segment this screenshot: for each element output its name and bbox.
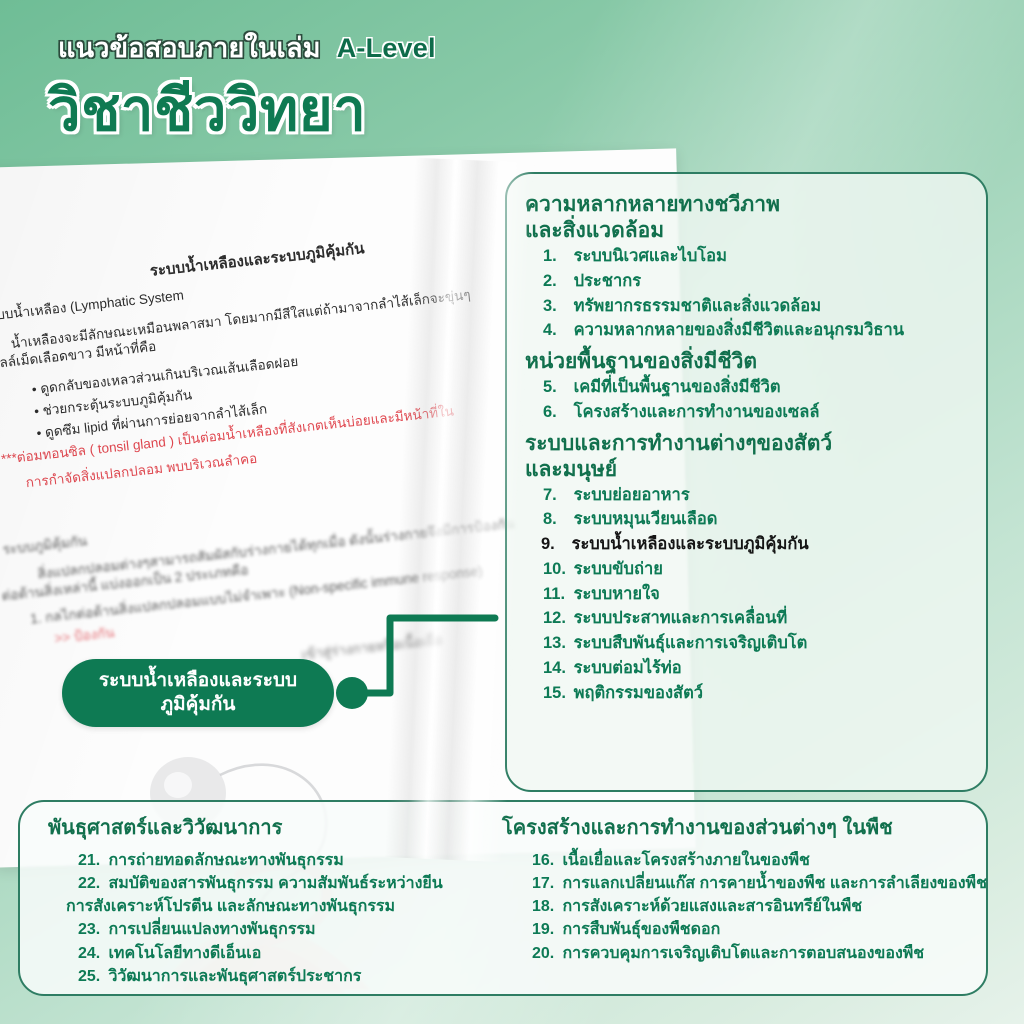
- toc-section-heading: ความหลากหลายทางชวีภาพ: [507, 192, 986, 218]
- toc-section-heading: และสิ่งแวดล้อม: [507, 218, 986, 244]
- header: แนวข้อสอบภายในเล่มA-Level วิชาชีววิทยา: [0, 0, 1024, 172]
- notebook-title: ระบบน้ำเหลืองและระบบภูมิคุ้มกัน: [149, 238, 366, 282]
- toc-item[interactable]: 3. ทรัพยากรธรรมชาติและสิ่งแวดล้อม: [507, 294, 986, 319]
- toc-item[interactable]: 24. เทคโนโลยีทางดีเอ็นเอ: [36, 942, 486, 965]
- toc-item[interactable]: 23. การเปลี่ยนแปลงทางพันธุกรรม: [36, 918, 486, 941]
- toc-item-number: 14.: [543, 656, 569, 681]
- toc-item[interactable]: 15. พฤติกรรมของสัตว์: [507, 681, 986, 706]
- toc-item[interactable]: 13. ระบบสืบพันธุ์และการเจริญเติบโต: [507, 631, 986, 656]
- callout-badge-line1: ระบบน้ำเหลืองและระบบ: [99, 670, 297, 691]
- notebook-line: สิ่งแปลกปลอมต่างๆสามารถสัมผัสกับร่างกายไ…: [37, 514, 516, 584]
- notebook-line: • ดูดกลับของเหลวส่วนเกินบริเวณเส้นเลือดฝ…: [31, 352, 299, 399]
- toc-item[interactable]: 7. ระบบย่อยอาหาร: [507, 483, 986, 508]
- notebook-line: 1. กลไกต่อต้านสิ่งแปลกปลอมแบบไม่จำเพาะ (…: [29, 561, 483, 628]
- toc-item-label: การเปลี่ยนแปลงทางพันธุกรรม: [104, 921, 316, 938]
- toc-item-label: ระบบขับถ่าย: [569, 560, 663, 578]
- toc-item[interactable]: 5. เคมีที่เป็นพื้นฐานของสิ่งมีชีวิต: [507, 375, 986, 400]
- toc-item-number: 13.: [543, 631, 569, 656]
- toc-item-number: 6.: [543, 400, 569, 425]
- notebook-line: มีเซลล์เม็ดเลือดขาว มีหน้าที่คือ: [0, 337, 157, 375]
- notebook-line: >> ป้องกัน: [53, 623, 115, 648]
- toc-item-label: ความหลากหลายของสิ่งมีชีวิตและอนุกรมวิธาน: [569, 321, 904, 339]
- toc-section-heading: และมนุษย์: [507, 457, 986, 483]
- toc-panel-bottom: พันธุศาสตร์และวิวัฒนาการ21. การถ่ายทอดลั…: [18, 800, 988, 996]
- toc-item-number: 2.: [543, 269, 569, 294]
- toc-section-heading: พันธุศาสตร์และวิวัฒนาการ: [36, 816, 486, 841]
- toc-item-label: ระบบหายใจ: [569, 585, 660, 603]
- toc-item-active[interactable]: 9. ระบบน้ำเหลืองและระบบภูมิคุ้มกัน: [507, 532, 986, 557]
- toc-item-label: ระบบประสาทและการเคลื่อนที่: [569, 609, 787, 627]
- toc-item[interactable]: 19. การสืบพันธุ์ของพืชดอก: [490, 918, 986, 941]
- toc-item-label: เคมีที่เป็นพื้นฐานของสิ่งมีชีวิต: [569, 378, 781, 396]
- toc-item-label: ระบบหมุนเวียนเลือด: [569, 510, 718, 528]
- toc-item[interactable]: 6. โครงสร้างและการทำงานของเซลล์: [507, 400, 986, 425]
- toc-item-number: 11.: [543, 582, 569, 607]
- notebook-line: ระบบภูมิคุ้มกัน: [2, 531, 88, 559]
- toc-item-number: 7.: [543, 483, 569, 508]
- toc-item-label: วิวัฒนาการและพันธุศาสตร์ประชากร: [104, 968, 361, 985]
- toc-item-number: 3.: [543, 294, 569, 319]
- toc-item-number: 24.: [78, 942, 104, 965]
- notebook-line: ***ต่อมทอนซิล ( tonsil gland ) เป็นต่อมน…: [0, 402, 455, 469]
- toc-panel-right: ความหลากหลายทางชวีภาพและสิ่งแวดล้อม1. ระ…: [505, 172, 988, 792]
- toc-item-number: 22.: [78, 872, 104, 895]
- toc-item-label: พฤติกรรมของสัตว์: [569, 684, 703, 702]
- toc-item-label: สมบัติของสารพันธุกรรม ความสัมพันธ์ระหว่า…: [104, 875, 443, 892]
- toc-item-label: ประชากร: [569, 272, 641, 290]
- toc-item-label: เทคโนโลยีทางดีเอ็นเอ: [104, 945, 261, 962]
- callout-badge[interactable]: ระบบน้ำเหลืองและระบบ ภูมิคุ้มกัน: [62, 659, 334, 727]
- toc-column-plants: โครงสร้างและการทำงานของส่วนต่างๆ ในพืช16…: [486, 816, 986, 994]
- toc-item[interactable]: 1. ระบบนิเวศและไบโอม: [507, 244, 986, 269]
- toc-item-label: การสังเคราะห์โปรตีน และลักษณะทางพันธุกรร…: [66, 898, 395, 915]
- toc-item[interactable]: 18. การสังเคราะห์ด้วยแสงและสารอินทรีย์ใน…: [490, 895, 986, 918]
- notebook-line: การกำจัดสิ่งแปลกปลอม พบบริเวณลำคอ: [25, 449, 258, 493]
- toc-section-heading: หน่วยพื้นฐานของสิ่งมีชีวิต: [507, 349, 986, 375]
- toc-item[interactable]: 14. ระบบต่อมไร้ท่อ: [507, 656, 986, 681]
- toc-section-heading: ระบบและการทำงานต่างๆของสัตว์: [507, 431, 986, 457]
- toc-item-number: 19.: [532, 918, 558, 941]
- callout-badge-line2: ภูมิคุ้มกัน: [161, 694, 236, 715]
- toc-item[interactable]: 12. ระบบประสาทและการเคลื่อนที่: [507, 606, 986, 631]
- toc-item-number: 12.: [543, 606, 569, 631]
- toc-item-label: การถ่ายทอดลักษณะทางพันธุกรรม: [104, 852, 344, 869]
- notebook-line: น้ำเหลืองจะมีลักษณะเหมือนพลาสมา โดยมากมี…: [10, 285, 472, 353]
- toc-item[interactable]: 11. ระบบหายใจ: [507, 582, 986, 607]
- toc-item-number: 4.: [543, 318, 569, 343]
- header-kicker-text: แนวข้อสอบภายในเล่ม: [58, 33, 321, 63]
- toc-item-number: 18.: [532, 895, 558, 918]
- toc-item-label: เนื้อเยื่อและโครงสร้างภายในของพืช: [558, 852, 810, 869]
- toc-item-number: 21.: [78, 849, 104, 872]
- toc-item[interactable]: การสังเคราะห์โปรตีน และลักษณะทางพันธุกรร…: [36, 895, 486, 918]
- toc-item[interactable]: 10. ระบบขับถ่าย: [507, 557, 986, 582]
- toc-item-number: 17.: [532, 872, 558, 895]
- toc-item-number: 23.: [78, 918, 104, 941]
- toc-item-label: ระบบสืบพันธุ์และการเจริญเติบโต: [569, 634, 807, 652]
- toc-item-label: การสืบพันธุ์ของพืชดอก: [558, 921, 720, 938]
- toc-item-number: 5.: [543, 375, 569, 400]
- toc-item[interactable]: 8. ระบบหมุนเวียนเลือด: [507, 507, 986, 532]
- notebook-line: • ช่วยกระตุ้นระบบภูมิคุ้มกัน: [33, 385, 193, 421]
- toc-item-number: 8.: [543, 507, 569, 532]
- notebook-line: • ดูดซึม lipid ที่ผ่านการย่อยจากลำไส้เล็…: [36, 399, 268, 443]
- infographic-canvas: ระบบน้ำเหลืองและระบบภูมิคุ้มกันระบบน้ำเห…: [0, 0, 1024, 1024]
- header-exam-label: A-Level: [337, 33, 436, 63]
- toc-item-label: ระบบต่อมไร้ท่อ: [569, 659, 682, 677]
- toc-item-label: ทรัพยากรธรรมชาติและสิ่งแวดล้อม: [569, 297, 821, 315]
- toc-item-label: โครงสร้างและการทำงานของเซลล์: [569, 403, 819, 421]
- notebook-line: เข้าสู่ร่างกายหรือเนื้อเยื่อ: [301, 630, 444, 664]
- toc-item-label: ระบบย่อยอาหาร: [569, 486, 690, 504]
- toc-item-number: 25.: [78, 965, 104, 988]
- toc-column-genetics: พันธุศาสตร์และวิวัฒนาการ21. การถ่ายทอดลั…: [20, 816, 486, 994]
- toc-item-label: ระบบน้ำเหลืองและระบบภูมิคุ้มกัน: [567, 535, 809, 553]
- toc-item-number: 10.: [543, 557, 569, 582]
- toc-item[interactable]: 22. สมบัติของสารพันธุกรรม ความสัมพันธ์ระ…: [36, 872, 486, 895]
- toc-item-number: 16.: [532, 849, 558, 872]
- toc-item-number: 9.: [541, 532, 567, 557]
- toc-item-number: 15.: [543, 681, 569, 706]
- page-title: วิชาชีววิทยา: [48, 82, 366, 140]
- toc-item-number: 1.: [543, 244, 569, 269]
- toc-item-label: การควบคุมการเจริญเติบโตและการตอบสนองของพ…: [558, 945, 924, 962]
- toc-item[interactable]: 4. ความหลากหลายของสิ่งมีชีวิตและอนุกรมวิ…: [507, 318, 986, 343]
- toc-item-label: ระบบนิเวศและไบโอม: [569, 247, 727, 265]
- toc-item[interactable]: 17. การแลกเปลี่ยนแก๊ส การคายน้ำของพืช แล…: [490, 872, 986, 895]
- toc-section-heading: โครงสร้างและการทำงานของส่วนต่างๆ ในพืช: [490, 816, 986, 841]
- toc-item[interactable]: 20. การควบคุมการเจริญเติบโตและการตอบสนอง…: [490, 942, 986, 965]
- toc-item[interactable]: 16. เนื้อเยื่อและโครงสร้างภายในของพืช: [490, 849, 986, 872]
- toc-item[interactable]: 2. ประชากร: [507, 269, 986, 294]
- toc-item-label: การแลกเปลี่ยนแก๊ส การคายน้ำของพืช และการ…: [558, 875, 987, 892]
- toc-item-label: การสังเคราะห์ด้วยแสงและสารอินทรีย์ในพืช: [558, 898, 862, 915]
- toc-item[interactable]: 21. การถ่ายทอดลักษณะทางพันธุกรรม: [36, 849, 486, 872]
- notebook-line: ระบบน้ำเหลือง (Lymphatic System: [0, 286, 185, 327]
- notebook-line: ต่อต้านสิ่งเหล่านี้ แบ่งออกเป็น 2 ประเภท…: [1, 560, 250, 605]
- header-kicker: แนวข้อสอบภายในเล่มA-Level: [58, 26, 436, 69]
- toc-item[interactable]: 25. วิวัฒนาการและพันธุศาสตร์ประชากร: [36, 965, 486, 988]
- toc-item-number: 20.: [532, 942, 558, 965]
